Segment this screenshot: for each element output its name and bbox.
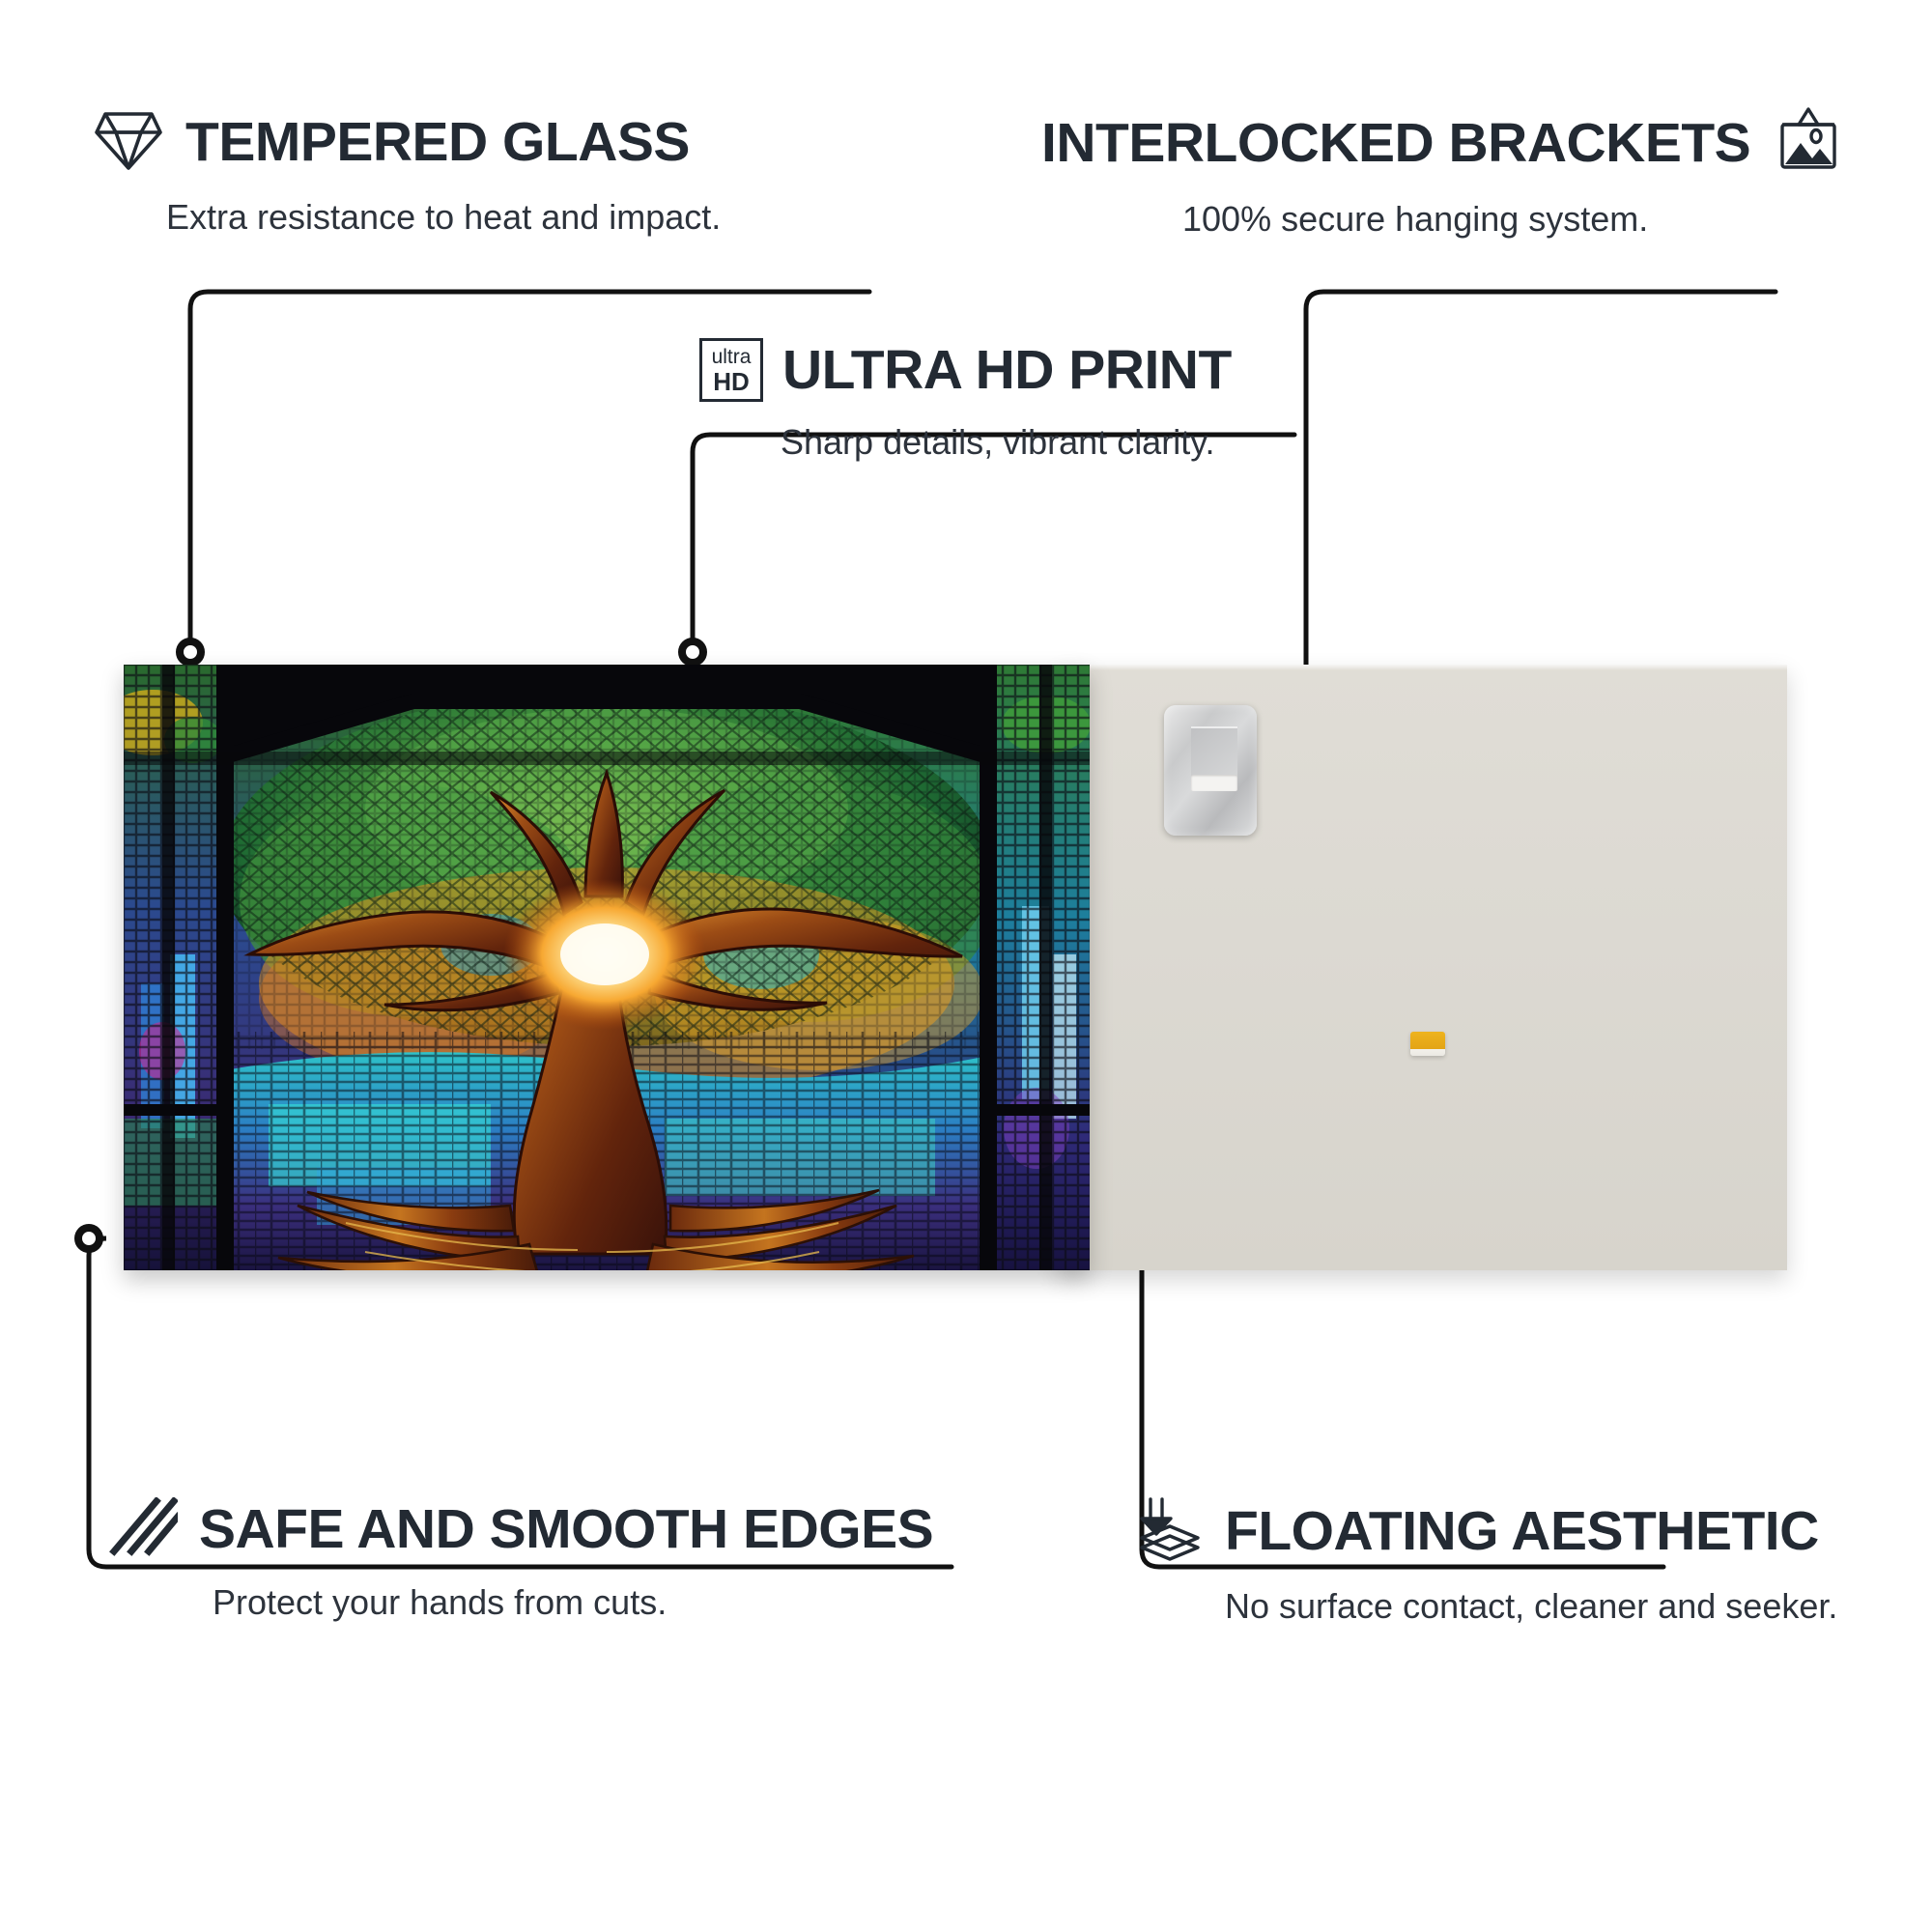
spacer-pad-right: [1410, 1032, 1445, 1056]
stained-glass-tree-of-life: [124, 665, 1090, 1270]
feature-subtitle: Protect your hands from cuts.: [213, 1583, 933, 1622]
feature-subtitle: No surface contact, cleaner and seeker.: [1225, 1587, 1837, 1626]
feature-tempered-glass: TEMPERED GLASS Extra resistance to heat …: [93, 106, 721, 237]
feature-floating-aesthetic: FLOATING AESTHETIC No surface contact, c…: [1138, 1497, 1837, 1626]
feature-interlocked-brackets: INTERLOCKED BRACKETS 100% secure hanging…: [1041, 106, 1843, 239]
connector-ultra-hd: [693, 435, 1294, 639]
feature-subtitle: Extra resistance to heat and impact.: [166, 198, 721, 237]
feature-ultra-hd-print: ultra HD ULTRA HD PRINT Sharp details, v…: [699, 338, 1232, 462]
framed-picture-icon: [1774, 106, 1843, 181]
feature-heading-row: SAFE AND SMOOTH EDGES: [108, 1497, 933, 1562]
feature-subtitle: 100% secure hanging system.: [1182, 200, 1843, 239]
bracket-hole: [1191, 775, 1237, 791]
feature-title: INTERLOCKED BRACKETS: [1041, 116, 1750, 171]
feature-title: SAFE AND SMOOTH EDGES: [199, 1502, 933, 1557]
feature-safe-smooth-edges: SAFE AND SMOOTH EDGES Protect your hands…: [108, 1497, 933, 1622]
glass-panel-back-view: [1058, 665, 1787, 1270]
glass-panel-front-artwork: [124, 665, 1090, 1270]
diamond-icon: [93, 106, 164, 179]
feature-title: ULTRA HD PRINT: [782, 343, 1232, 398]
infographic-canvas: TEMPERED GLASS Extra resistance to heat …: [0, 0, 1932, 1932]
callout-dot-tempered-glass: [180, 641, 201, 663]
feature-heading-row: ultra HD ULTRA HD PRINT: [699, 338, 1232, 402]
feature-subtitle: Sharp details, vibrant clarity.: [781, 423, 1232, 462]
feature-heading-row: FLOATING AESTHETIC: [1138, 1497, 1837, 1566]
diagonal-stripes-icon: [108, 1497, 178, 1562]
callout-dot-safe-edges: [78, 1228, 99, 1249]
feature-heading-row: INTERLOCKED BRACKETS: [1041, 106, 1843, 181]
feature-title: FLOATING AESTHETIC: [1225, 1504, 1819, 1559]
callout-dot-ultra-hd: [682, 641, 703, 663]
hanging-bracket: [1164, 705, 1257, 836]
ultra-hd-icon: ultra HD: [699, 338, 763, 402]
product-photo-group: [124, 665, 1787, 1270]
connector-brackets: [1306, 292, 1776, 715]
feature-heading-row: TEMPERED GLASS: [93, 106, 721, 179]
ultra-hd-icon-text-bottom: HD: [713, 369, 750, 394]
arrow-onto-stack-icon: [1138, 1497, 1206, 1566]
ultra-hd-icon-text-top: ultra: [712, 347, 752, 367]
feature-title: TEMPERED GLASS: [185, 115, 690, 170]
